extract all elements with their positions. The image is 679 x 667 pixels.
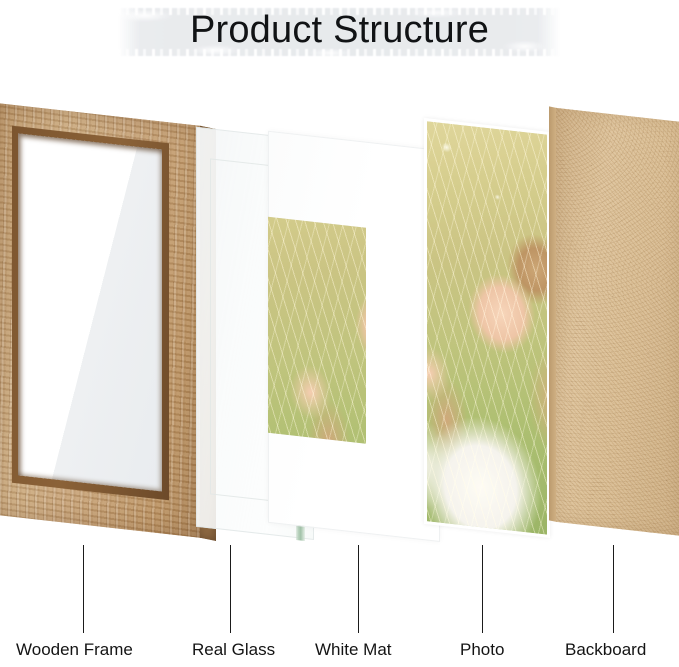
callout-tick-backboard [613, 545, 614, 633]
caption-wooden-frame: Wooden Frame [16, 640, 133, 660]
callout-tick-real-glass [230, 545, 231, 633]
caption-white-mat: White Mat [315, 640, 392, 660]
caption-real-glass: Real Glass [192, 640, 275, 660]
callout-tick-wooden-frame [83, 545, 84, 633]
caption-photo: Photo [460, 640, 504, 660]
callout-tick-white-mat [358, 545, 359, 633]
callout-tick-photo [482, 545, 483, 633]
caption-backboard: Backboard [565, 640, 646, 660]
callout-group: Wooden Frame Real Glass White Mat Photo … [0, 0, 679, 667]
